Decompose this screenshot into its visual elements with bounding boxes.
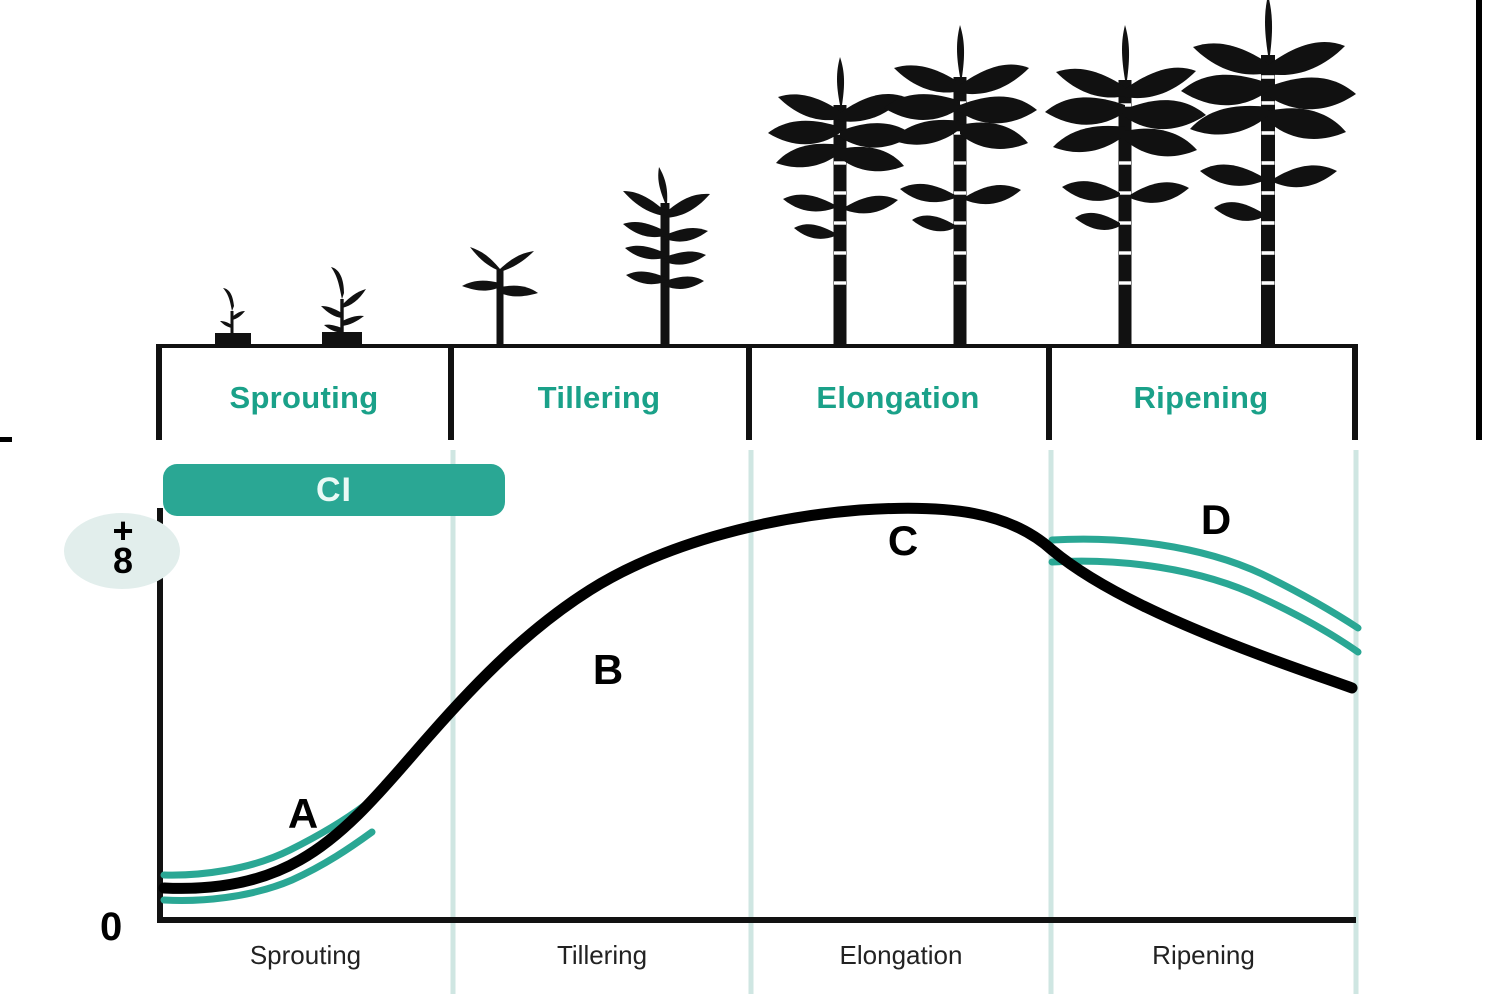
ci-legend-label: CI <box>316 471 352 510</box>
ground-line <box>158 344 1358 348</box>
growth-curve-plot: A B C D <box>0 450 1486 994</box>
origin-label: 0 <box>100 905 122 950</box>
sugarcane-plant-illustrations <box>0 0 1486 348</box>
panel-left-rule <box>0 437 12 442</box>
stage-label-sprouting: Sprouting <box>158 380 450 416</box>
curve-segment-label-b: B <box>593 646 623 693</box>
x-tick-elongation: Elongation <box>751 940 1051 971</box>
x-tick-tillering: Tillering <box>453 940 751 971</box>
plant-elongation-1 <box>768 57 913 348</box>
plant-tillering-2 <box>623 167 710 348</box>
plant-ripening-1 <box>1045 25 1206 348</box>
curve-segment-label-c: C <box>888 517 918 564</box>
stage-label-ripening: Ripening <box>1048 380 1354 416</box>
curve-segment-label-a: A <box>288 790 318 837</box>
growth-stage-illustration-panel: Sprouting Tillering Elongation Ripening <box>0 0 1486 450</box>
plant-elongation-2 <box>884 25 1037 348</box>
plant-sprouting-1 <box>215 288 251 348</box>
growth-curve-line <box>164 508 1352 888</box>
y-axis-label: + 8 <box>95 516 151 575</box>
x-tick-sprouting: Sprouting <box>158 940 453 971</box>
x-axis-tick-label-row: Sprouting Tillering Elongation Ripening <box>158 940 1358 984</box>
curve-segment-label-d: D <box>1201 496 1231 543</box>
ci-legend-pill[interactable]: CI <box>163 464 505 516</box>
stage-label-row: Sprouting Tillering Elongation Ripening <box>158 380 1358 440</box>
plant-ripening-2 <box>1181 0 1356 348</box>
stage-label-tillering: Tillering <box>450 380 748 416</box>
stage-label-elongation: Elongation <box>748 380 1048 416</box>
x-tick-ripening: Ripening <box>1051 940 1356 971</box>
plant-sprouting-2 <box>320 267 367 348</box>
growth-curve-chart-panel: A B C D CI + 8 0 Sprouting Tillering Elo… <box>0 450 1486 994</box>
plant-tillering-1 <box>462 247 538 348</box>
